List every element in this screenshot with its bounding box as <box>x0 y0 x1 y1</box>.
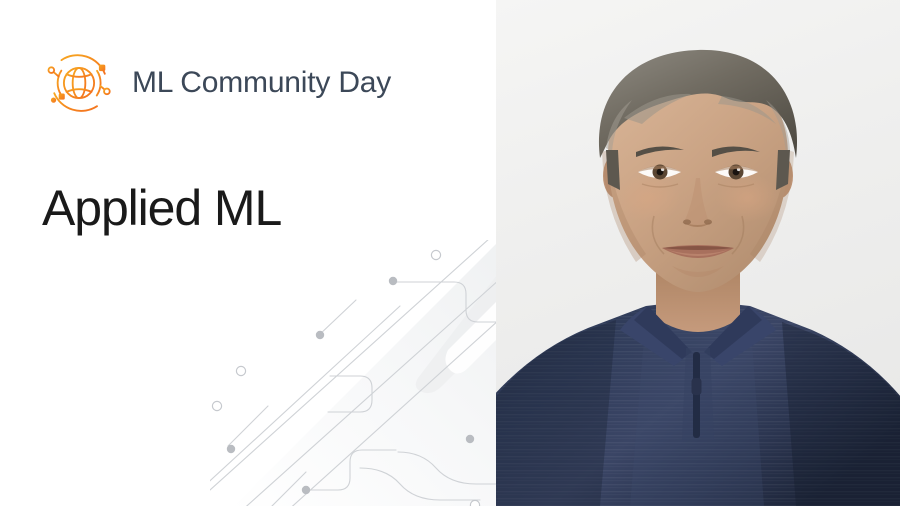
circuit-trace-pattern <box>210 240 496 506</box>
brand-lockup: ML Community Day <box>40 44 391 122</box>
left-content-panel: ML Community Day Applied ML <box>0 0 496 506</box>
globe-orbit-icon <box>40 44 118 122</box>
speaker-photo-panel <box>496 0 900 506</box>
presentation-slide: ML Community Day Applied ML <box>0 0 900 506</box>
brand-title: ML Community Day <box>132 68 391 98</box>
page-title: Applied ML <box>42 180 281 236</box>
speaker-portrait-image <box>496 0 900 506</box>
